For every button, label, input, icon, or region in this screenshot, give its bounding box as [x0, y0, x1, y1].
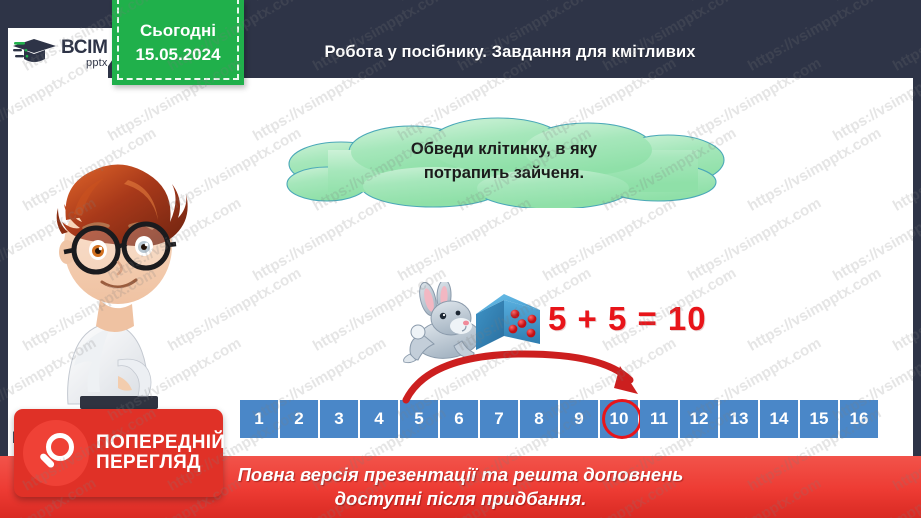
number-cell-1[interactable]: 1 — [240, 400, 278, 438]
number-cell-4[interactable]: 4 — [360, 400, 398, 438]
date-banner: Сьогодні 15.05.2024 — [112, 0, 244, 85]
watermark-text: https://vsimpptx.com — [395, 195, 534, 285]
date-today-label: Сьогодні — [140, 21, 216, 41]
watermark-text: https://vsimpptx.com — [685, 195, 824, 285]
number-cell-15[interactable]: 15 — [800, 400, 838, 438]
dice-illustration — [470, 288, 546, 360]
instruction-line-2: потрапить зайченя. — [283, 162, 725, 186]
watermark-text: https://vsimpptx.com — [745, 265, 884, 355]
number-cell-2[interactable]: 2 — [280, 400, 318, 438]
number-cell-16[interactable]: 16 — [840, 400, 878, 438]
boy-body — [68, 324, 158, 409]
logo-subtext: pptx — [61, 58, 108, 69]
brand-logo[interactable]: ВСІМ pptx — [12, 30, 122, 76]
watermark-text: https://vsimpptx.com — [250, 195, 389, 285]
number-cell-14[interactable]: 14 — [760, 400, 798, 438]
preview-line-1: ПОПЕРЕДНІЙ — [96, 433, 225, 453]
instruction-cloud: Обведи клітинку, в яку потрапить зайченя… — [283, 112, 725, 208]
number-cell-3[interactable]: 3 — [320, 400, 358, 438]
graduation-cap-icon — [12, 33, 60, 73]
preview-badge[interactable]: ПОПЕРЕДНІЙ ПЕРЕГЛЯД — [14, 409, 223, 497]
instruction-text: Обведи клітинку, в яку потрапить зайченя… — [283, 138, 725, 186]
preview-badge-label: ПОПЕРЕДНІЙ ПЕРЕГЛЯД — [96, 433, 225, 473]
preview-line-2: ПЕРЕГЛЯД — [96, 453, 225, 473]
watermark-text: https://vsimpptx.com — [745, 125, 884, 215]
bottom-notice-line-2: доступні після придбання. — [335, 487, 587, 511]
number-cell-12[interactable]: 12 — [680, 400, 718, 438]
equation-text: 5 + 5 = 10 — [548, 300, 707, 338]
bottom-notice-line-1: Повна версія презентації та решта доповн… — [238, 463, 684, 487]
logo-wordmark: ВСІМ — [61, 38, 108, 57]
slide-canvas: Робота у посібнику. Завдання для кмітлив… — [0, 0, 921, 518]
number-cell-13[interactable]: 13 — [720, 400, 758, 438]
boy-head — [57, 164, 188, 304]
instruction-line-1: Обведи клітинку, в яку — [283, 138, 725, 162]
cartoon-boy-illustration — [18, 128, 208, 428]
watermark-text: https://vsimpptx.com — [830, 195, 921, 285]
watermark-text: https://vsimpptx.com — [540, 195, 679, 285]
magnifier-icon — [23, 420, 89, 486]
page-title: Робота у посібнику. Завдання для кмітлив… — [170, 36, 850, 68]
date-value: 15.05.2024 — [135, 45, 220, 65]
